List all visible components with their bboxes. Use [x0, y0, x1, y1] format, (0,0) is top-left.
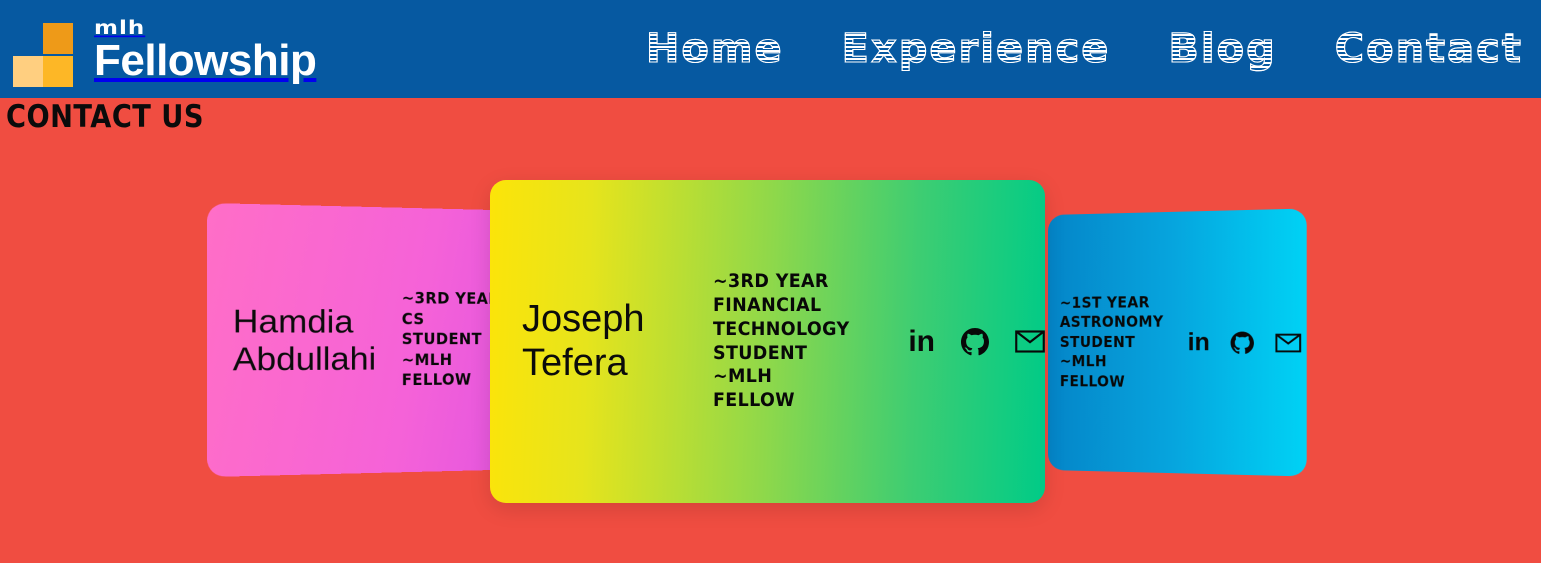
card-inner: ~1st year Astronomy student ~MLH Fellow … — [1048, 209, 1307, 477]
social-links: in — [908, 327, 1045, 357]
fellow-card-deck: Hamdia Abdullahi ~3rd year CS student ~M… — [0, 0, 1541, 563]
social-links: in — [1188, 330, 1302, 355]
page-root: mlh Fellowship Home Experience Blog Cont… — [0, 0, 1541, 563]
linkedin-icon[interactable]: in — [908, 327, 935, 357]
fellow-bio: ~1st year Astronomy student ~MLH Fellow — [1060, 293, 1170, 393]
linkedin-icon[interactable]: in — [1188, 330, 1210, 355]
github-icon[interactable] — [1231, 331, 1254, 354]
email-icon[interactable] — [1276, 333, 1302, 352]
linkedin-label: in — [1188, 330, 1210, 355]
linkedin-label: in — [908, 327, 935, 357]
fellow-bio: ~3rd year Financial Technology student ~… — [713, 270, 874, 414]
github-icon[interactable] — [961, 328, 989, 356]
card-inner: Joseph Tefera ~3rd year Financial Techno… — [490, 180, 1045, 503]
fellow-name: Hamdia Abdullahi — [233, 302, 397, 379]
fellow-name: Joseph Tefera — [522, 298, 707, 385]
email-icon[interactable] — [1015, 330, 1045, 353]
fellow-card-joseph[interactable]: Joseph Tefera ~3rd year Financial Techno… — [490, 180, 1045, 503]
fellow-card-astronomy[interactable]: ~1st year Astronomy student ~MLH Fellow … — [1048, 209, 1307, 477]
